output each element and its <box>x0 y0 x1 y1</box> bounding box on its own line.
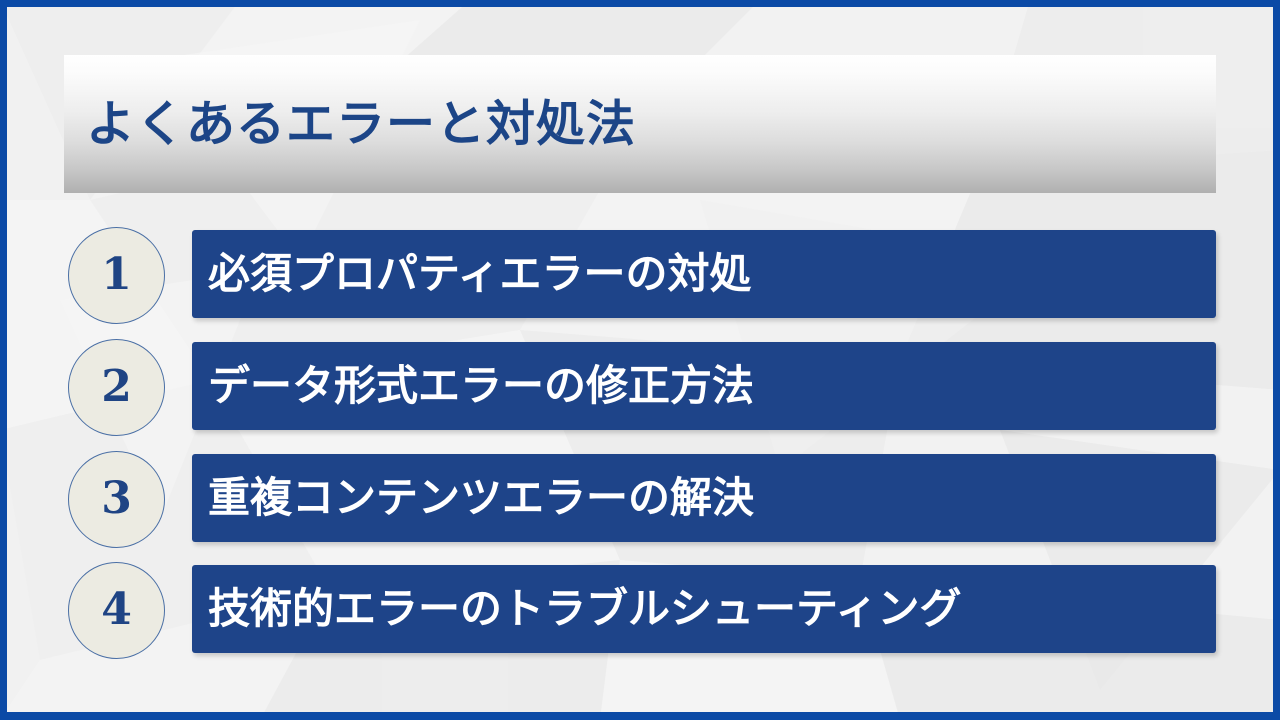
item-label: 技術的エラーのトラブルシューティング <box>208 588 961 630</box>
item-label: 必須プロパティエラーの対処 <box>208 253 751 295</box>
item-number-badge: 4 <box>68 562 165 659</box>
item-number-badge: 3 <box>68 451 165 548</box>
item-number: 3 <box>101 477 132 521</box>
slide: よくあるエラーと対処法 1 必須プロパティエラーの対処 2 データ形式エラーの修… <box>0 0 1280 720</box>
list-item: 4 技術的エラーのトラブルシューティング <box>0 562 1280 660</box>
list-item: 2 データ形式エラーの修正方法 <box>0 339 1280 437</box>
item-label: データ形式エラーの修正方法 <box>208 365 754 407</box>
item-number-badge: 1 <box>68 227 165 324</box>
list-item: 1 必須プロパティエラーの対処 <box>0 227 1280 325</box>
item-bar[interactable]: 重複コンテンツエラーの解決 <box>192 454 1216 542</box>
item-bar[interactable]: 必須プロパティエラーの対処 <box>192 230 1216 318</box>
list-item: 3 重複コンテンツエラーの解決 <box>0 451 1280 549</box>
item-number-badge: 2 <box>68 339 165 436</box>
agenda-list: 1 必須プロパティエラーの対処 2 データ形式エラーの修正方法 3 重複コンテン… <box>0 0 1280 720</box>
item-number: 2 <box>101 365 132 409</box>
item-number: 1 <box>101 253 132 297</box>
item-number: 4 <box>101 588 132 632</box>
item-bar[interactable]: データ形式エラーの修正方法 <box>192 342 1216 430</box>
item-label: 重複コンテンツエラーの解決 <box>208 477 754 519</box>
item-bar[interactable]: 技術的エラーのトラブルシューティング <box>192 565 1216 653</box>
